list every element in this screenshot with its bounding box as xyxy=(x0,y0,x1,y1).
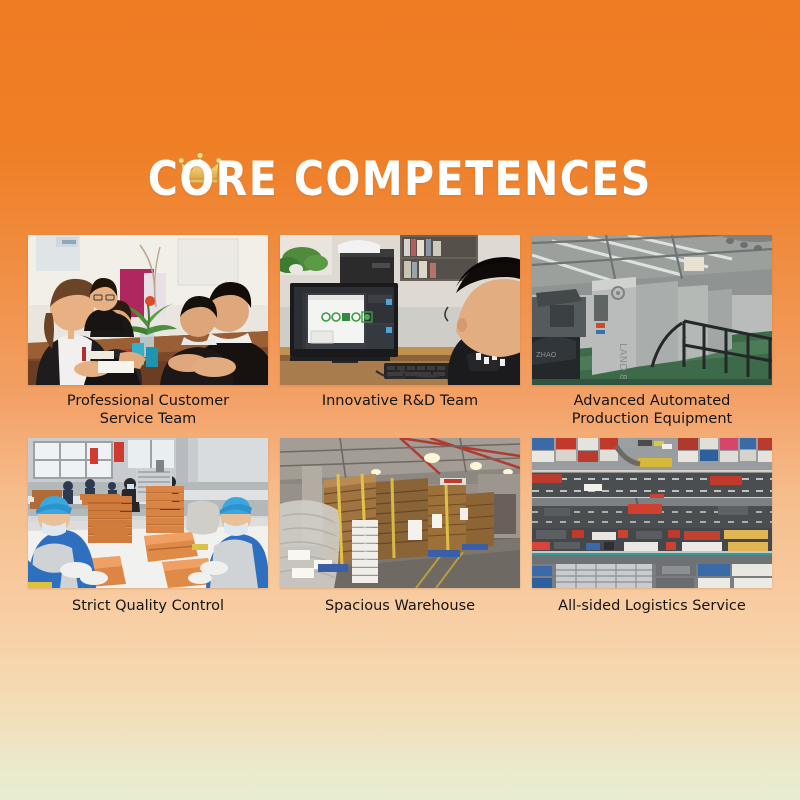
card-image-quality-inspection xyxy=(28,438,268,588)
core-competences-banner: CORE COMPETENCES xyxy=(0,0,800,800)
card-image-meeting-room xyxy=(28,235,268,385)
card-image-aerial-port-logistics xyxy=(532,438,772,588)
svg-text:ZHAO: ZHAO xyxy=(536,351,557,359)
card-caption: Strict Quality Control xyxy=(28,597,268,615)
card-image-printing-press-line: LAND 800 ALBERT ZHAO xyxy=(532,235,772,385)
card-all-sided-logistics-service[interactable]: All-sided Logistics Service xyxy=(532,438,772,615)
card-caption: Advanced Automated Production Equipment xyxy=(532,392,772,428)
card-image-designer-workstation xyxy=(280,235,520,385)
page-title: CORE COMPETENCES xyxy=(148,150,652,210)
title-block: CORE COMPETENCES xyxy=(0,150,800,210)
card-advanced-automated-production-equipment[interactable]: LAND 800 ALBERT ZHAO xyxy=(532,235,772,428)
card-image-warehouse xyxy=(280,438,520,588)
card-caption: Professional Customer Service Team xyxy=(28,392,268,428)
card-professional-customer-service-team[interactable]: Professional Customer Service Team xyxy=(28,235,268,428)
card-spacious-warehouse[interactable]: Spacious Warehouse xyxy=(280,438,520,615)
competences-grid: Professional Customer Service Team xyxy=(28,235,772,615)
card-caption: All-sided Logistics Service xyxy=(532,597,772,615)
card-caption: Innovative R&D Team xyxy=(280,392,520,410)
card-innovative-rd-team[interactable]: Innovative R&D Team xyxy=(280,235,520,428)
svg-text:LAND 800: LAND 800 xyxy=(617,343,628,385)
card-strict-quality-control[interactable]: Strict Quality Control xyxy=(28,438,268,615)
card-caption: Spacious Warehouse xyxy=(280,597,520,615)
